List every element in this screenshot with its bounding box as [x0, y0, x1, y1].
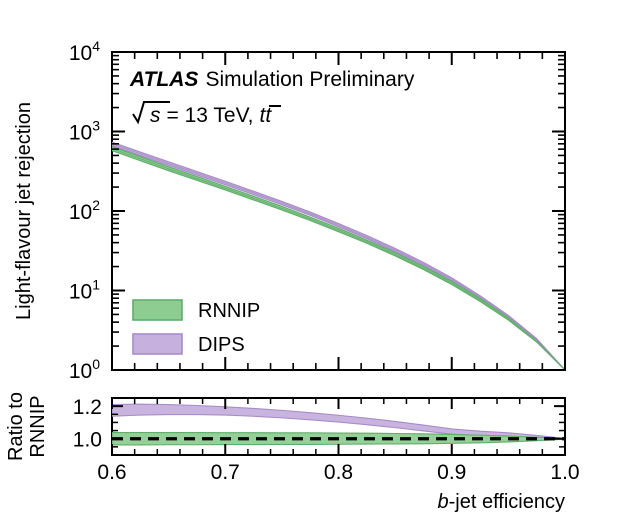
simulation-preliminary-label: Simulation Preliminary [205, 68, 414, 91]
atlas-label: ATLAS [129, 68, 198, 91]
y-ticklabel-base: 10 [69, 201, 92, 224]
y-ticklabel-exponent: 4 [92, 38, 100, 54]
x-ticklabel: 0.7 [211, 461, 240, 484]
energy-value: = 13 TeV, [167, 104, 254, 127]
x-axis-title: b-jet efficiency [438, 491, 565, 513]
y-ticklabel-exponent: 3 [92, 118, 100, 134]
y-ticklabel-1e1: 101 [69, 277, 100, 304]
y-ticklabel-1e2: 102 [69, 197, 100, 224]
x-ticklabels: 0.60.70.80.91.0 [97, 461, 579, 484]
main-panel [112, 52, 565, 370]
y-ticklabel-1e3: 103 [69, 118, 100, 145]
x-axis-title-rest: -jet efficiency [449, 491, 565, 513]
y-ticklabel-1e4: 104 [69, 38, 100, 65]
ratio-y-ticklabels: 1.01.2 [73, 396, 102, 452]
x-ticklabel: 0.6 [97, 461, 126, 484]
main-y-axis-title: Light-flavour jet rejection [13, 102, 35, 320]
y-ticklabel-1e0: 100 [69, 356, 100, 383]
ratio-y-ticklabel: 1.2 [73, 396, 102, 419]
ratio-y-axis-title-line: Ratio to [5, 392, 27, 461]
legend-swatch-rnnip [133, 300, 182, 320]
y-ticklabel-base: 10 [69, 281, 92, 304]
y-ticklabel-exponent: 2 [92, 197, 100, 213]
process-label: tt [260, 104, 273, 127]
main-y-ticklabels: 100101102103104 [69, 38, 100, 383]
legend-label-rnnip: RNNIP [198, 300, 260, 322]
y-ticklabel-exponent: 0 [92, 356, 100, 372]
plot-canvas: 100101102103104Light-flavour jet rejecti… [0, 0, 623, 519]
x-ticklabel: 0.8 [324, 461, 353, 484]
legend-swatch-dips [133, 334, 182, 354]
main-panel-frame [112, 52, 565, 370]
x-axis-title-italic-b: b [438, 491, 449, 513]
legend-label-dips: DIPS [198, 334, 245, 356]
atlas-roc-figure: 100101102103104Light-flavour jet rejecti… [0, 0, 623, 519]
x-ticklabel: 0.9 [437, 461, 466, 484]
ratio-y-ticklabel: 1.0 [73, 429, 102, 452]
ratio-y-axis-title: Ratio toRNNIP [5, 392, 49, 461]
x-ticklabel: 1.0 [550, 461, 579, 484]
ratio-panel [112, 398, 565, 455]
y-ticklabel-exponent: 1 [92, 277, 100, 293]
sqrt-argument: s [150, 104, 161, 127]
y-ticklabel-base: 10 [69, 42, 92, 65]
energy-tag: s= 13 TeV,tt [133, 102, 281, 127]
ratio-y-axis-title-line: RNNIP [27, 395, 49, 457]
y-ticklabel-base: 10 [69, 360, 92, 383]
y-ticklabel-base: 10 [69, 122, 92, 145]
atlas-tag: ATLASSimulation Preliminary [129, 68, 415, 91]
